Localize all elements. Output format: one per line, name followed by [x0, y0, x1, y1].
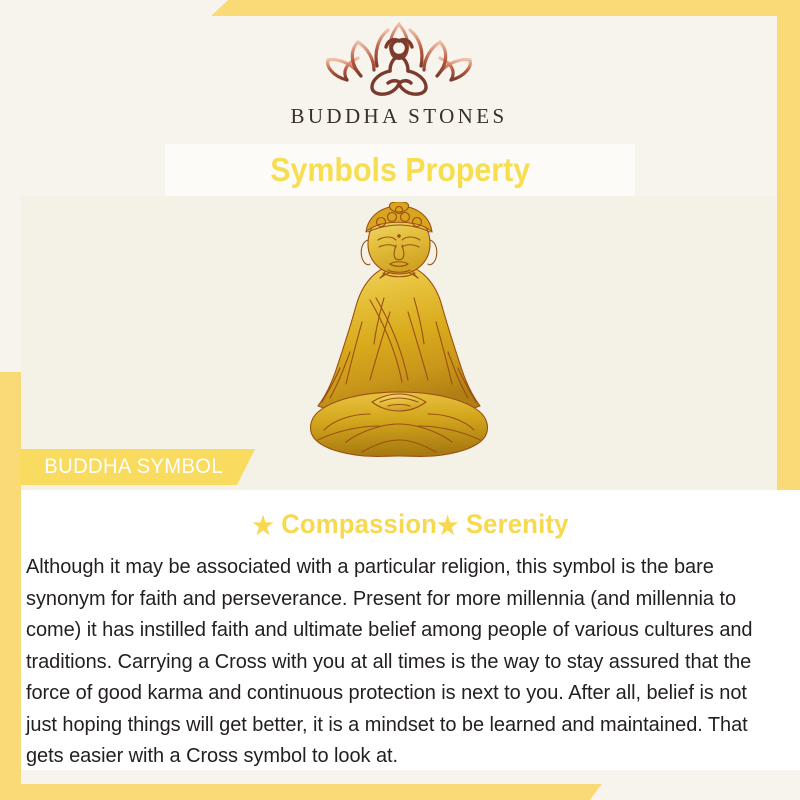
content-headline: ★ Compassion★ Serenity — [40, 490, 780, 541]
brand-name: BUDDHA STONES — [290, 104, 507, 129]
star-icon-right: ★ — [437, 512, 458, 540]
lotus-meditation-icon — [314, 18, 484, 102]
content-body-text: Although it may be associated with a par… — [26, 552, 757, 773]
headline-word-compassion: Compassion — [281, 509, 437, 539]
content-panel: ★ Compassion★ Serenity Although it may b… — [21, 490, 800, 770]
hero-image-area — [21, 196, 777, 490]
title-banner: Symbols Property — [165, 144, 635, 196]
decorative-top-band — [210, 0, 800, 17]
decorative-left-band — [0, 372, 21, 800]
poster-root: BUDDHA STONES Symbols Property — [0, 0, 800, 800]
seated-golden-buddha-illustration — [284, 202, 514, 490]
star-icon-left: ★ — [252, 512, 273, 540]
brand-logo: BUDDHA STONES — [21, 18, 777, 142]
headline-word-serenity: Serenity — [466, 509, 569, 539]
tag-label: BUDDHA SYMBOL — [24, 455, 223, 479]
page-title: Symbols Property — [270, 151, 530, 189]
buddha-symbol-tag: BUDDHA SYMBOL — [20, 449, 255, 485]
